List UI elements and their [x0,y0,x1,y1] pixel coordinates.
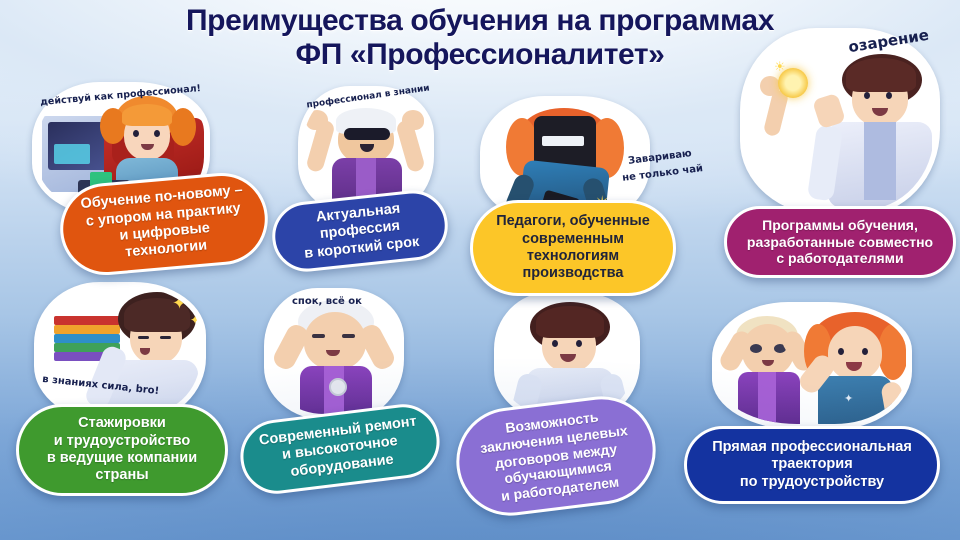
pill-line-3: в ведущие компании [47,450,197,467]
card-internships[interactable]: ✦ ✦ в знаниях сила, bro! Стажировки и тр… [16,282,242,508]
pill-line-3: технологиям [496,248,650,265]
pill-line-3: по трудоустройству [712,474,912,491]
pill-line-4: производства [496,265,650,282]
title-line-2: ФП «Профессионалитет» [0,38,960,72]
card-label-pill[interactable]: Программы обучения, разработанные совмес… [724,206,956,278]
card-label-pill[interactable]: Обучение по-новому – с упором на практик… [56,169,271,279]
pill-line-4: страны [47,467,197,484]
page-title: Преимущества обучения на программах ФП «… [0,4,960,71]
card-label-pill[interactable]: Прямая профессиональная траектория по тр… [684,426,940,504]
card-relevant-profession[interactable]: профессионал в знании Актуальная професс… [272,86,462,266]
card-label-pill[interactable]: Возможность заключения целевых договоров… [450,390,662,522]
card-career-path[interactable]: ✦ Прямая профессиональная траектория по … [676,302,948,512]
pill-line-1: Прямая профессиональная [712,439,912,456]
pill-line-1: Программы обучения, [747,217,933,234]
pill-line-2: траектория [712,456,912,473]
pill-line-2: и трудоустройство [47,433,197,450]
sticker-art-two-kids: ✦ [712,302,912,430]
sticker-art-calm-girl [264,288,404,420]
poster-root: Преимущества обучения на программах ФП «… [0,0,960,540]
pill-line-1: Стажировки [47,415,197,432]
pill-line-3: с работодателями [747,250,933,267]
card-target-contracts[interactable]: Возможность заключения целевых договоров… [456,292,682,512]
card-label-pill[interactable]: Актуальная профессия в короткий срок [269,187,451,275]
pill-line-1: Педагоги, обученные [496,213,650,230]
pill-line-2: разработанные совместно [747,234,933,251]
title-line-1: Преимущества обучения на программах [186,4,774,37]
card-label-pill[interactable]: Стажировки и трудоустройство в ведущие к… [16,404,228,496]
sticker-art-boy-with-books: ✦ ✦ [34,282,206,422]
card-label-pill[interactable]: Педагоги, обученные современным технолог… [470,200,676,296]
card-label-pill[interactable]: Современный ремонт и высокоточное оборуд… [236,400,444,498]
card-new-learning[interactable]: действуй как профессионал! Обучение по-н… [18,82,268,277]
pill-line-2: современным [496,231,650,248]
card-modern-teachers[interactable]: ✴ Завариваю не только чай Педагоги, обуч… [466,96,701,296]
card-modern-equipment[interactable]: спок, всё ок Современный ремонт и высоко… [240,288,456,488]
